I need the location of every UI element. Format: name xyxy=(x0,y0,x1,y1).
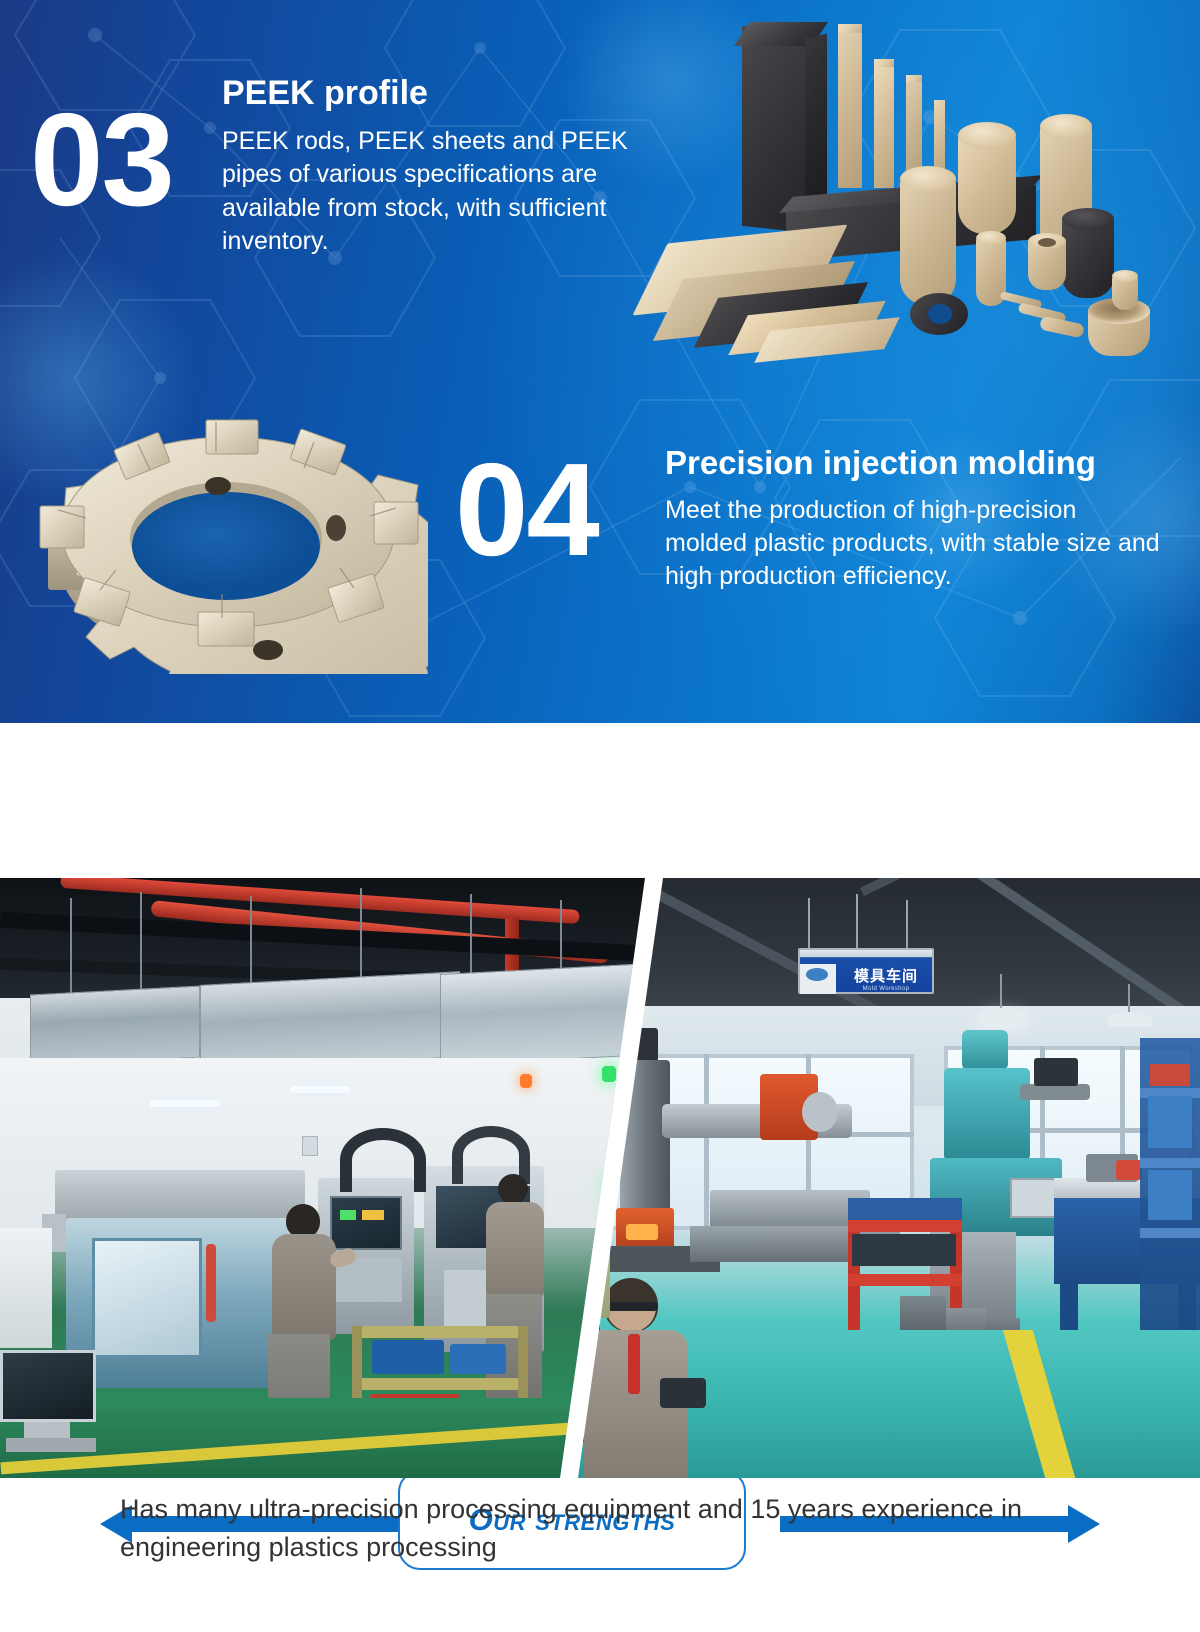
item-heading-03: PEEK profile xyxy=(222,74,652,113)
bottom-caption: Has many ultra-precision processing equi… xyxy=(0,1490,1200,1567)
item-body-04: Meet the production of high-precision mo… xyxy=(665,494,1165,594)
sign-text-cn: 模具车间 xyxy=(840,964,932,986)
item-body-03: PEEK rods, PEEK sheets and PEEK pipes of… xyxy=(222,125,652,258)
peek-profile-products-photo xyxy=(610,8,1190,368)
item-heading-04: Precision injection molding xyxy=(665,444,1165,482)
factory-photo-strip: 模具车间 Mold Workshop xyxy=(0,878,1200,1478)
marketing-page: 03 PEEK profile PEEK rods, PEEK sheets a… xyxy=(0,0,1200,1632)
sign-text-en: Mold Workshop xyxy=(840,984,932,994)
hero-section: 03 PEEK profile PEEK rods, PEEK sheets a… xyxy=(0,0,1200,723)
hero-item-04: 04 Precision injection molding Meet the … xyxy=(455,430,1175,660)
item-number-04: 04 xyxy=(455,444,598,576)
item-number-03: 03 xyxy=(30,94,173,226)
peek-gear-ring-photo xyxy=(28,392,428,674)
hero-item-03: 03 PEEK profile PEEK rods, PEEK sheets a… xyxy=(30,74,650,324)
strengths-band: Our strengths xyxy=(0,723,1200,878)
